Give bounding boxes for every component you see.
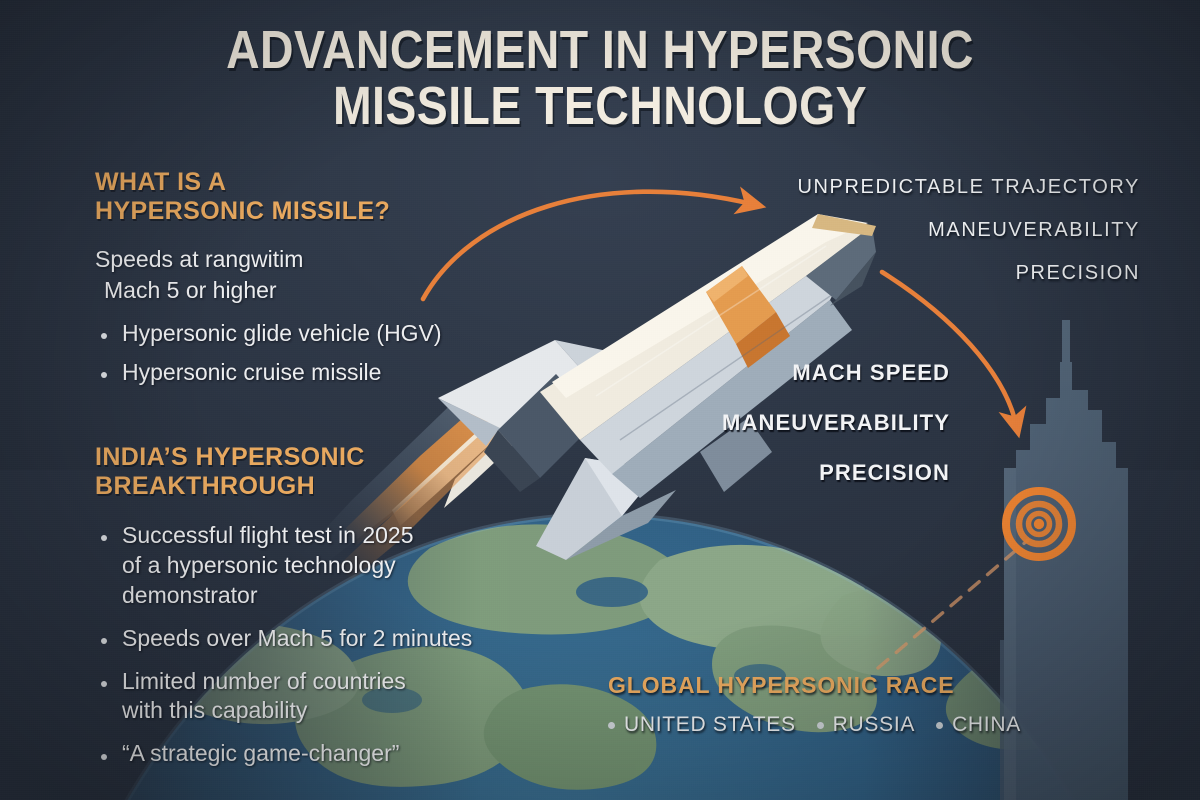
what-is-paragraph-line-1: Speeds at rangwitim (95, 244, 535, 275)
what-is-section: WHAT IS A HYPERSONIC MISSILE? Speeds at … (95, 168, 535, 396)
trait-label: UNPREDICTABLE TRAJECTORY (690, 176, 1140, 199)
bullet-text: of a hypersonic technology (122, 551, 565, 581)
bullet-text: “A strategic game-changer” (122, 739, 565, 769)
list-item: Hypersonic glide vehicle (HGV) (95, 319, 535, 349)
country-name: CHINA (952, 713, 1021, 737)
bullet-text: Hypersonic glide vehicle (HGV) (122, 319, 535, 349)
bullet-dot-icon (101, 681, 107, 687)
bullet-text: Limited number of countries (122, 667, 565, 697)
trait-label: MACH SPEED (620, 360, 950, 386)
list-item: Speeds over Mach 5 for 2 minutes (95, 624, 565, 654)
what-is-heading: WHAT IS A HYPERSONIC MISSILE? (95, 168, 535, 226)
bullet-text: Hypersonic cruise missile (122, 358, 535, 388)
title-line-2: MISSILE TECHNOLOGY (84, 78, 1116, 134)
global-race-country-list: UNITED STATES RUSSIA CHINA (608, 713, 1128, 737)
list-item: Limited number of countries with this ca… (95, 667, 565, 727)
page-title: ADVANCEMENT IN HYPERSONIC MISSILE TECHNO… (84, 22, 1116, 134)
trait-labels-top: UNPREDICTABLE TRAJECTORY MANEUVERABILITY… (690, 176, 1140, 305)
trait-label: PRECISION (620, 460, 950, 486)
bullet-text: Speeds over Mach 5 for 2 minutes (122, 624, 565, 654)
country-name: UNITED STATES (624, 713, 796, 737)
infographic-canvas: ADVANCEMENT IN HYPERSONIC MISSILE TECHNO… (0, 0, 1200, 800)
bullet-dot-icon (101, 638, 107, 644)
bullet-dot-icon (817, 722, 824, 729)
bullet-text: Successful flight test in 2025 (122, 521, 565, 551)
india-heading-line-2: BREAKTHROUGH (95, 472, 565, 501)
list-item: Hypersonic cruise missile (95, 358, 535, 388)
bullet-dot-icon (936, 722, 943, 729)
what-is-bullet-list: Hypersonic glide vehicle (HGV) Hypersoni… (95, 319, 535, 388)
bullet-dot-icon (101, 754, 107, 760)
title-line-1: ADVANCEMENT IN HYPERSONIC (84, 22, 1116, 78)
what-is-heading-line-1: WHAT IS A (95, 168, 535, 197)
bullet-text: with this capability (122, 696, 565, 726)
country-name: RUSSIA (833, 713, 915, 737)
list-item: “A strategic game-changer” (95, 739, 565, 769)
trait-label: PRECISION (690, 262, 1140, 285)
list-item: Successful flight test in 2025 of a hype… (95, 521, 565, 611)
list-item: CHINA (936, 713, 1021, 737)
bullet-dot-icon (101, 372, 107, 378)
list-item: UNITED STATES (608, 713, 796, 737)
bullet-dot-icon (101, 535, 107, 541)
what-is-paragraph-line-2: Mach 5 or higher (95, 275, 535, 306)
what-is-heading-line-2: HYPERSONIC MISSILE? (95, 197, 535, 226)
list-item: RUSSIA (817, 713, 915, 737)
global-race-section: GLOBAL HYPERSONIC RACE UNITED STATES RUS… (608, 672, 1128, 737)
global-race-title: GLOBAL HYPERSONIC RACE (608, 672, 1128, 699)
india-bullet-list: Successful flight test in 2025 of a hype… (95, 521, 565, 769)
bullet-dot-icon (608, 722, 615, 729)
bullet-dot-icon (101, 333, 107, 339)
trait-label: MANEUVERABILITY (690, 219, 1140, 242)
india-breakthrough-section: INDIA’S HYPERSONIC BREAKTHROUGH Successf… (95, 443, 565, 782)
trait-labels-middle: MACH SPEED MANEUVERABILITY PRECISION (620, 360, 950, 510)
bullet-text: demonstrator (122, 581, 565, 611)
what-is-paragraph: Speeds at rangwitim Mach 5 or higher (95, 244, 535, 306)
india-heading: INDIA’S HYPERSONIC BREAKTHROUGH (95, 443, 565, 501)
trait-label: MANEUVERABILITY (620, 410, 950, 436)
india-heading-line-1: INDIA’S HYPERSONIC (95, 443, 565, 472)
